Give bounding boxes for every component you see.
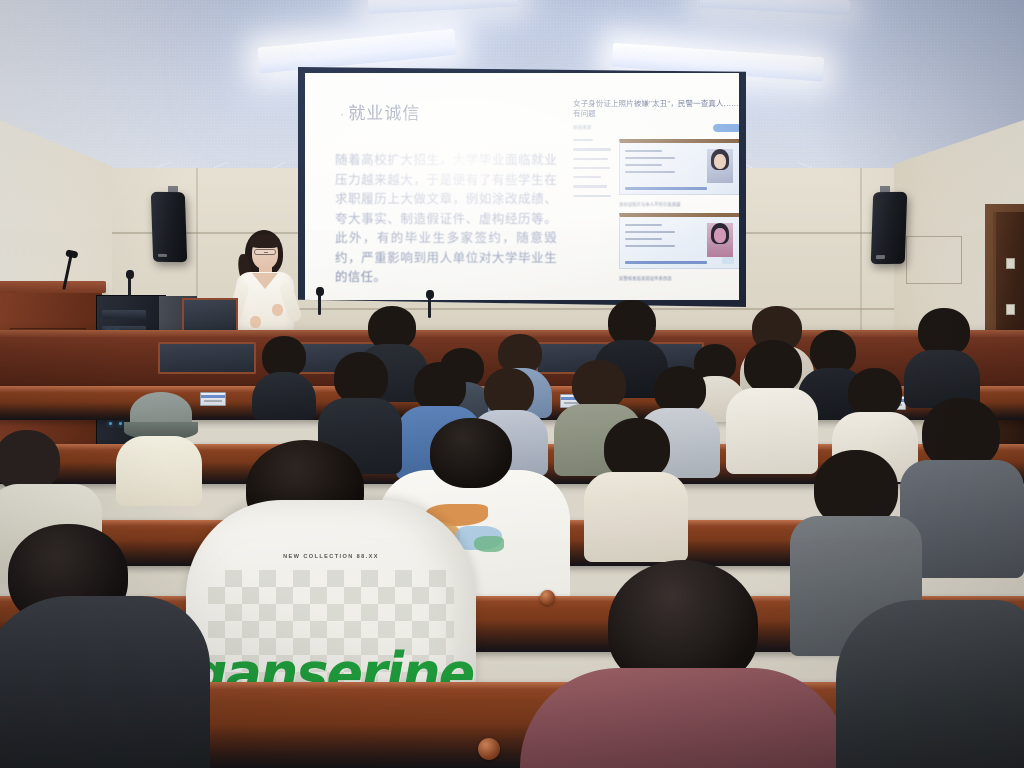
slide-body-text: 随着高校扩大招生，大学毕业面临就业压力越来越大，于是便有了有些学生在求职履历上大…	[335, 151, 557, 288]
audience-person	[0, 550, 210, 768]
person-head	[604, 418, 670, 480]
id-card-fields	[625, 224, 687, 252]
slide-title-bullet: ·	[340, 107, 345, 122]
door-sign	[1006, 258, 1015, 269]
slide-title-text: 就业诚信	[348, 104, 420, 123]
person-head	[430, 418, 512, 488]
desk-screen-panel	[158, 342, 256, 374]
presenter-hand-left	[250, 316, 261, 328]
news-image-column: 身份证照片与本人不符引发质疑 民警核查后发	[619, 139, 739, 287]
right-wall-speaker	[871, 192, 908, 264]
person-torso	[0, 596, 210, 768]
audience-person	[520, 560, 850, 768]
person-head	[334, 352, 388, 404]
news-columns: 身份证照片与本人不符引发质疑 民警核查后发	[573, 139, 739, 287]
person-torso	[520, 668, 850, 768]
id-card-image-second	[619, 213, 739, 269]
projection-screen: ·就业诚信 随着高校扩大招生，大学毕业面临就业压力越来越大，于是便有了有些学生在…	[305, 73, 739, 300]
slide-news-clipping: 女子身份证上照片被嫌"太丑"，民警一查真人……有问题 新闻来源	[573, 99, 739, 287]
news-headline: 女子身份证上照片被嫌"太丑"，民警一查真人……有问题	[573, 99, 739, 119]
rack-status-led	[109, 422, 112, 425]
person-head	[572, 360, 626, 410]
person-torso	[584, 472, 688, 562]
person-head	[414, 362, 466, 412]
wall-panel-frame	[906, 236, 962, 284]
desk-microphone	[428, 296, 431, 318]
rack-unit	[102, 310, 146, 319]
bench-armrest-knob	[478, 738, 500, 760]
presenter-hand-right	[272, 304, 283, 316]
news-source-tag: 新闻来源	[573, 125, 591, 131]
glasses-icon	[254, 249, 276, 255]
news-caption-bottom: 民警核查后发现证件系伪造	[619, 276, 739, 282]
news-meta-row: 新闻来源	[573, 124, 739, 132]
left-wall-speaker	[151, 192, 187, 262]
id-seal	[722, 257, 734, 264]
slide-title: ·就业诚信	[340, 99, 420, 124]
person-head	[848, 368, 902, 418]
person-head	[744, 340, 802, 394]
person-head	[484, 368, 534, 416]
id-card-fields	[625, 150, 687, 178]
person-head	[0, 430, 60, 492]
news-follow-button	[713, 124, 739, 132]
id-photo-first	[707, 149, 733, 183]
projection-screen-frame: ·就业诚信 随着高校扩大招生，大学毕业面临就业压力越来越大，于是便有了有些学生在…	[298, 67, 746, 307]
seat-number-plate	[200, 392, 226, 406]
desk-microphone	[318, 293, 321, 315]
shirt-top-text: NEW COLLECTION 88.XX	[186, 554, 476, 560]
id-card-image-first	[619, 139, 739, 195]
person-torso	[836, 600, 1024, 768]
desk-microphone	[128, 276, 131, 296]
presenter-fringe	[250, 234, 280, 248]
person-head	[654, 366, 706, 414]
audience-person	[836, 600, 1024, 768]
audience-person	[252, 336, 316, 412]
news-text-column	[573, 139, 613, 287]
person-torso	[252, 372, 316, 420]
person-head	[918, 308, 970, 356]
id-number-line	[625, 187, 707, 190]
podium-top	[0, 281, 106, 293]
audience-person	[726, 340, 818, 468]
news-caption-top: 身份证照片与本人不符引发质疑	[619, 202, 739, 208]
audience-person	[116, 392, 202, 500]
audience-person	[584, 418, 688, 554]
door-sign	[1006, 304, 1015, 315]
id-photo-second	[707, 223, 733, 257]
lecture-hall-photo: ·就业诚信 随着高校扩大招生，大学毕业面临就业压力越来越大，于是便有了有些学生在…	[0, 0, 1024, 768]
id-number-line	[625, 261, 707, 264]
person-torso	[116, 436, 202, 506]
